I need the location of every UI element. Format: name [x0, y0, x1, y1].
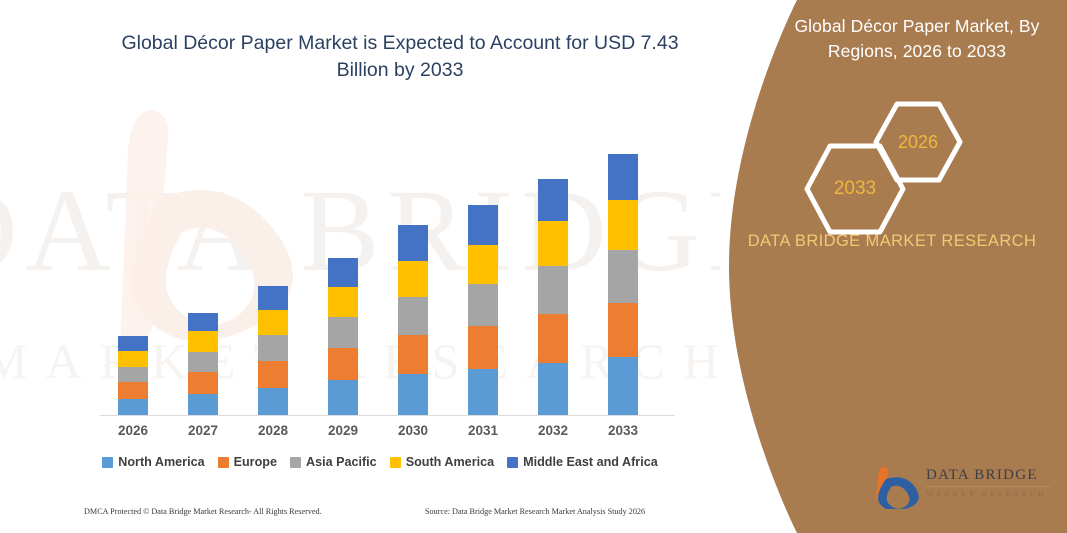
bar-segment [468, 369, 498, 415]
bar-2026[interactable] [118, 336, 148, 415]
bar-segment [608, 250, 638, 303]
bar-2028[interactable] [258, 286, 288, 415]
bar-segment [188, 313, 218, 331]
legend-label: Asia Pacific [306, 455, 377, 469]
bar-segment [328, 380, 358, 415]
bar-segment [468, 284, 498, 326]
bar-segment [468, 326, 498, 369]
brand-panel: Global Décor Paper Market, By Regions, 2… [687, 0, 1067, 533]
bar-segment [608, 154, 638, 200]
bar-segment [188, 372, 218, 394]
legend-swatch-icon [102, 457, 113, 468]
legend-swatch-icon [290, 457, 301, 468]
company-logo: DATA BRIDGE MARKET RESEARCH [872, 463, 1052, 513]
legend-label: South America [406, 455, 494, 469]
bar-segment [538, 363, 568, 415]
page-title: Global Décor Paper Market is Expected to… [110, 30, 690, 84]
infographic-page: DATA BRIDGE MARKET RESEARCH Global Décor… [0, 0, 1067, 533]
bar-segment [258, 361, 288, 388]
bar-segment [118, 351, 148, 367]
bar-segment [258, 388, 288, 415]
bar-segment [188, 394, 218, 415]
x-tick-label-2027: 2027 [175, 423, 231, 438]
legend-swatch-icon [507, 457, 518, 468]
bar-segment [258, 335, 288, 361]
bar-segment [188, 331, 218, 352]
legend-item-north-america[interactable]: North America [102, 455, 204, 469]
bar-2030[interactable] [398, 225, 428, 415]
logo-title: DATA BRIDGE [926, 467, 1054, 484]
hexagon-2026-label: 2026 [872, 100, 964, 184]
brand-panel-title: Global Décor Paper Market, By Regions, 2… [782, 14, 1052, 64]
x-tick-label-2029: 2029 [315, 423, 371, 438]
bar-segment [118, 367, 148, 382]
bar-segment [538, 266, 568, 314]
hexagon-2026: 2026 [872, 100, 964, 184]
bar-segment [258, 310, 288, 335]
x-tick-label-2033: 2033 [595, 423, 651, 438]
legend-label: Middle East and Africa [523, 455, 658, 469]
bar-chart-plot: 20262027202820292030203120322033 [80, 120, 680, 416]
data-bridge-logo-icon [872, 465, 920, 509]
x-tick-label-2028: 2028 [245, 423, 301, 438]
legend-item-europe[interactable]: Europe [218, 455, 277, 469]
bar-2029[interactable] [328, 258, 358, 415]
bar-2031[interactable] [468, 205, 498, 415]
footer-copyright: DMCA Protected © Data Bridge Market Rese… [84, 507, 322, 516]
legend-label: North America [118, 455, 204, 469]
bar-segment [538, 314, 568, 363]
bar-segment [398, 225, 428, 261]
bar-segment [328, 287, 358, 317]
bar-2033[interactable] [608, 154, 638, 415]
x-tick-label-2032: 2032 [525, 423, 581, 438]
legend-item-middle-east-and-africa[interactable]: Middle East and Africa [507, 455, 658, 469]
bar-segment [468, 245, 498, 284]
bar-2032[interactable] [538, 179, 568, 415]
legend-item-asia-pacific[interactable]: Asia Pacific [290, 455, 377, 469]
bar-segment [328, 348, 358, 380]
logo-divider [926, 486, 1050, 487]
brand-name: DATA BRIDGE MARKET RESEARCH [742, 228, 1042, 254]
bar-segment [188, 352, 218, 372]
logo-wordmark: DATA BRIDGE MARKET RESEARCH [926, 467, 1054, 498]
logo-subtitle: MARKET RESEARCH [926, 489, 1054, 498]
bar-segment [258, 286, 288, 310]
legend-item-south-america[interactable]: South America [390, 455, 494, 469]
legend-label: Europe [234, 455, 277, 469]
x-axis-line [100, 415, 675, 416]
bar-segment [118, 399, 148, 415]
bar-segment [538, 221, 568, 266]
brand-panel-content: Global Décor Paper Market, By Regions, 2… [687, 0, 1067, 533]
bar-segment [398, 374, 428, 415]
bar-segment [608, 357, 638, 415]
bar-segment [608, 200, 638, 250]
legend-swatch-icon [390, 457, 401, 468]
chart-legend: North AmericaEuropeAsia PacificSouth Ame… [80, 455, 680, 469]
bar-segment [608, 303, 638, 357]
footer-source: Source: Data Bridge Market Research Mark… [425, 507, 645, 516]
x-tick-label-2026: 2026 [105, 423, 161, 438]
bar-segment [328, 258, 358, 287]
bar-segment [118, 336, 148, 351]
chart-panel: DATA BRIDGE MARKET RESEARCH Global Décor… [0, 0, 700, 533]
bar-segment [398, 297, 428, 335]
bar-segment [118, 382, 148, 399]
legend-swatch-icon [218, 457, 229, 468]
x-tick-label-2030: 2030 [385, 423, 441, 438]
bar-segment [328, 317, 358, 348]
bar-segment [398, 261, 428, 297]
bar-segment [538, 179, 568, 221]
bar-segment [468, 205, 498, 245]
bar-segment [398, 335, 428, 374]
bar-2027[interactable] [188, 313, 218, 415]
x-tick-label-2031: 2031 [455, 423, 511, 438]
